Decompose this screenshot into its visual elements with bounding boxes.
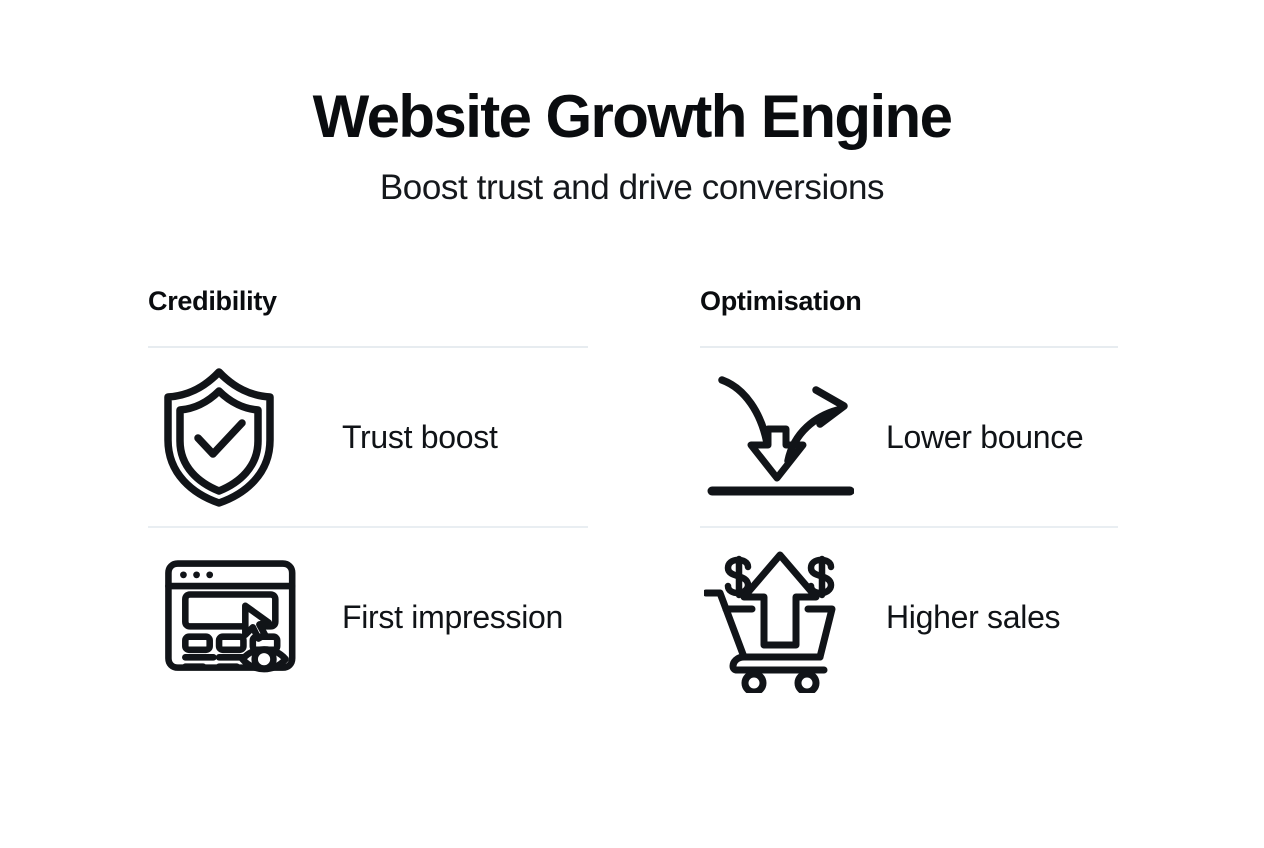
list-item-lower-bounce[interactable]: Lower bounce [700, 348, 1118, 526]
column-heading-credibility: Credibility [148, 284, 588, 318]
list-item-label: Lower bounce [886, 419, 1083, 456]
list-item-label: Trust boost [342, 419, 498, 456]
columns-container: Credibility Trust boost [148, 284, 1118, 706]
page-title: Website Growth Engine [0, 82, 1264, 152]
browser-window-eye-icon [148, 546, 310, 688]
list-item-trust-boost[interactable]: Trust boost [148, 348, 588, 526]
page-subtitle: Boost trust and drive conversions [0, 166, 1264, 210]
column-optimisation: Optimisation [700, 284, 1118, 706]
list-item-label: First impression [342, 599, 563, 636]
list-item-first-impression[interactable]: First impression [148, 528, 588, 706]
list-item-label: Higher sales [886, 599, 1060, 636]
column-heading-optimisation: Optimisation [700, 284, 1118, 318]
shopping-cart-up-arrow-dollar-icon [700, 541, 854, 693]
list-item-higher-sales[interactable]: Higher sales [700, 528, 1118, 706]
page-header: Website Growth Engine Boost trust and dr… [0, 82, 1264, 210]
shield-check-icon [148, 366, 310, 508]
bounce-arrow-icon [700, 366, 854, 508]
infographic-page: Website Growth Engine Boost trust and dr… [0, 0, 1264, 848]
column-credibility: Credibility Trust boost [148, 284, 588, 706]
